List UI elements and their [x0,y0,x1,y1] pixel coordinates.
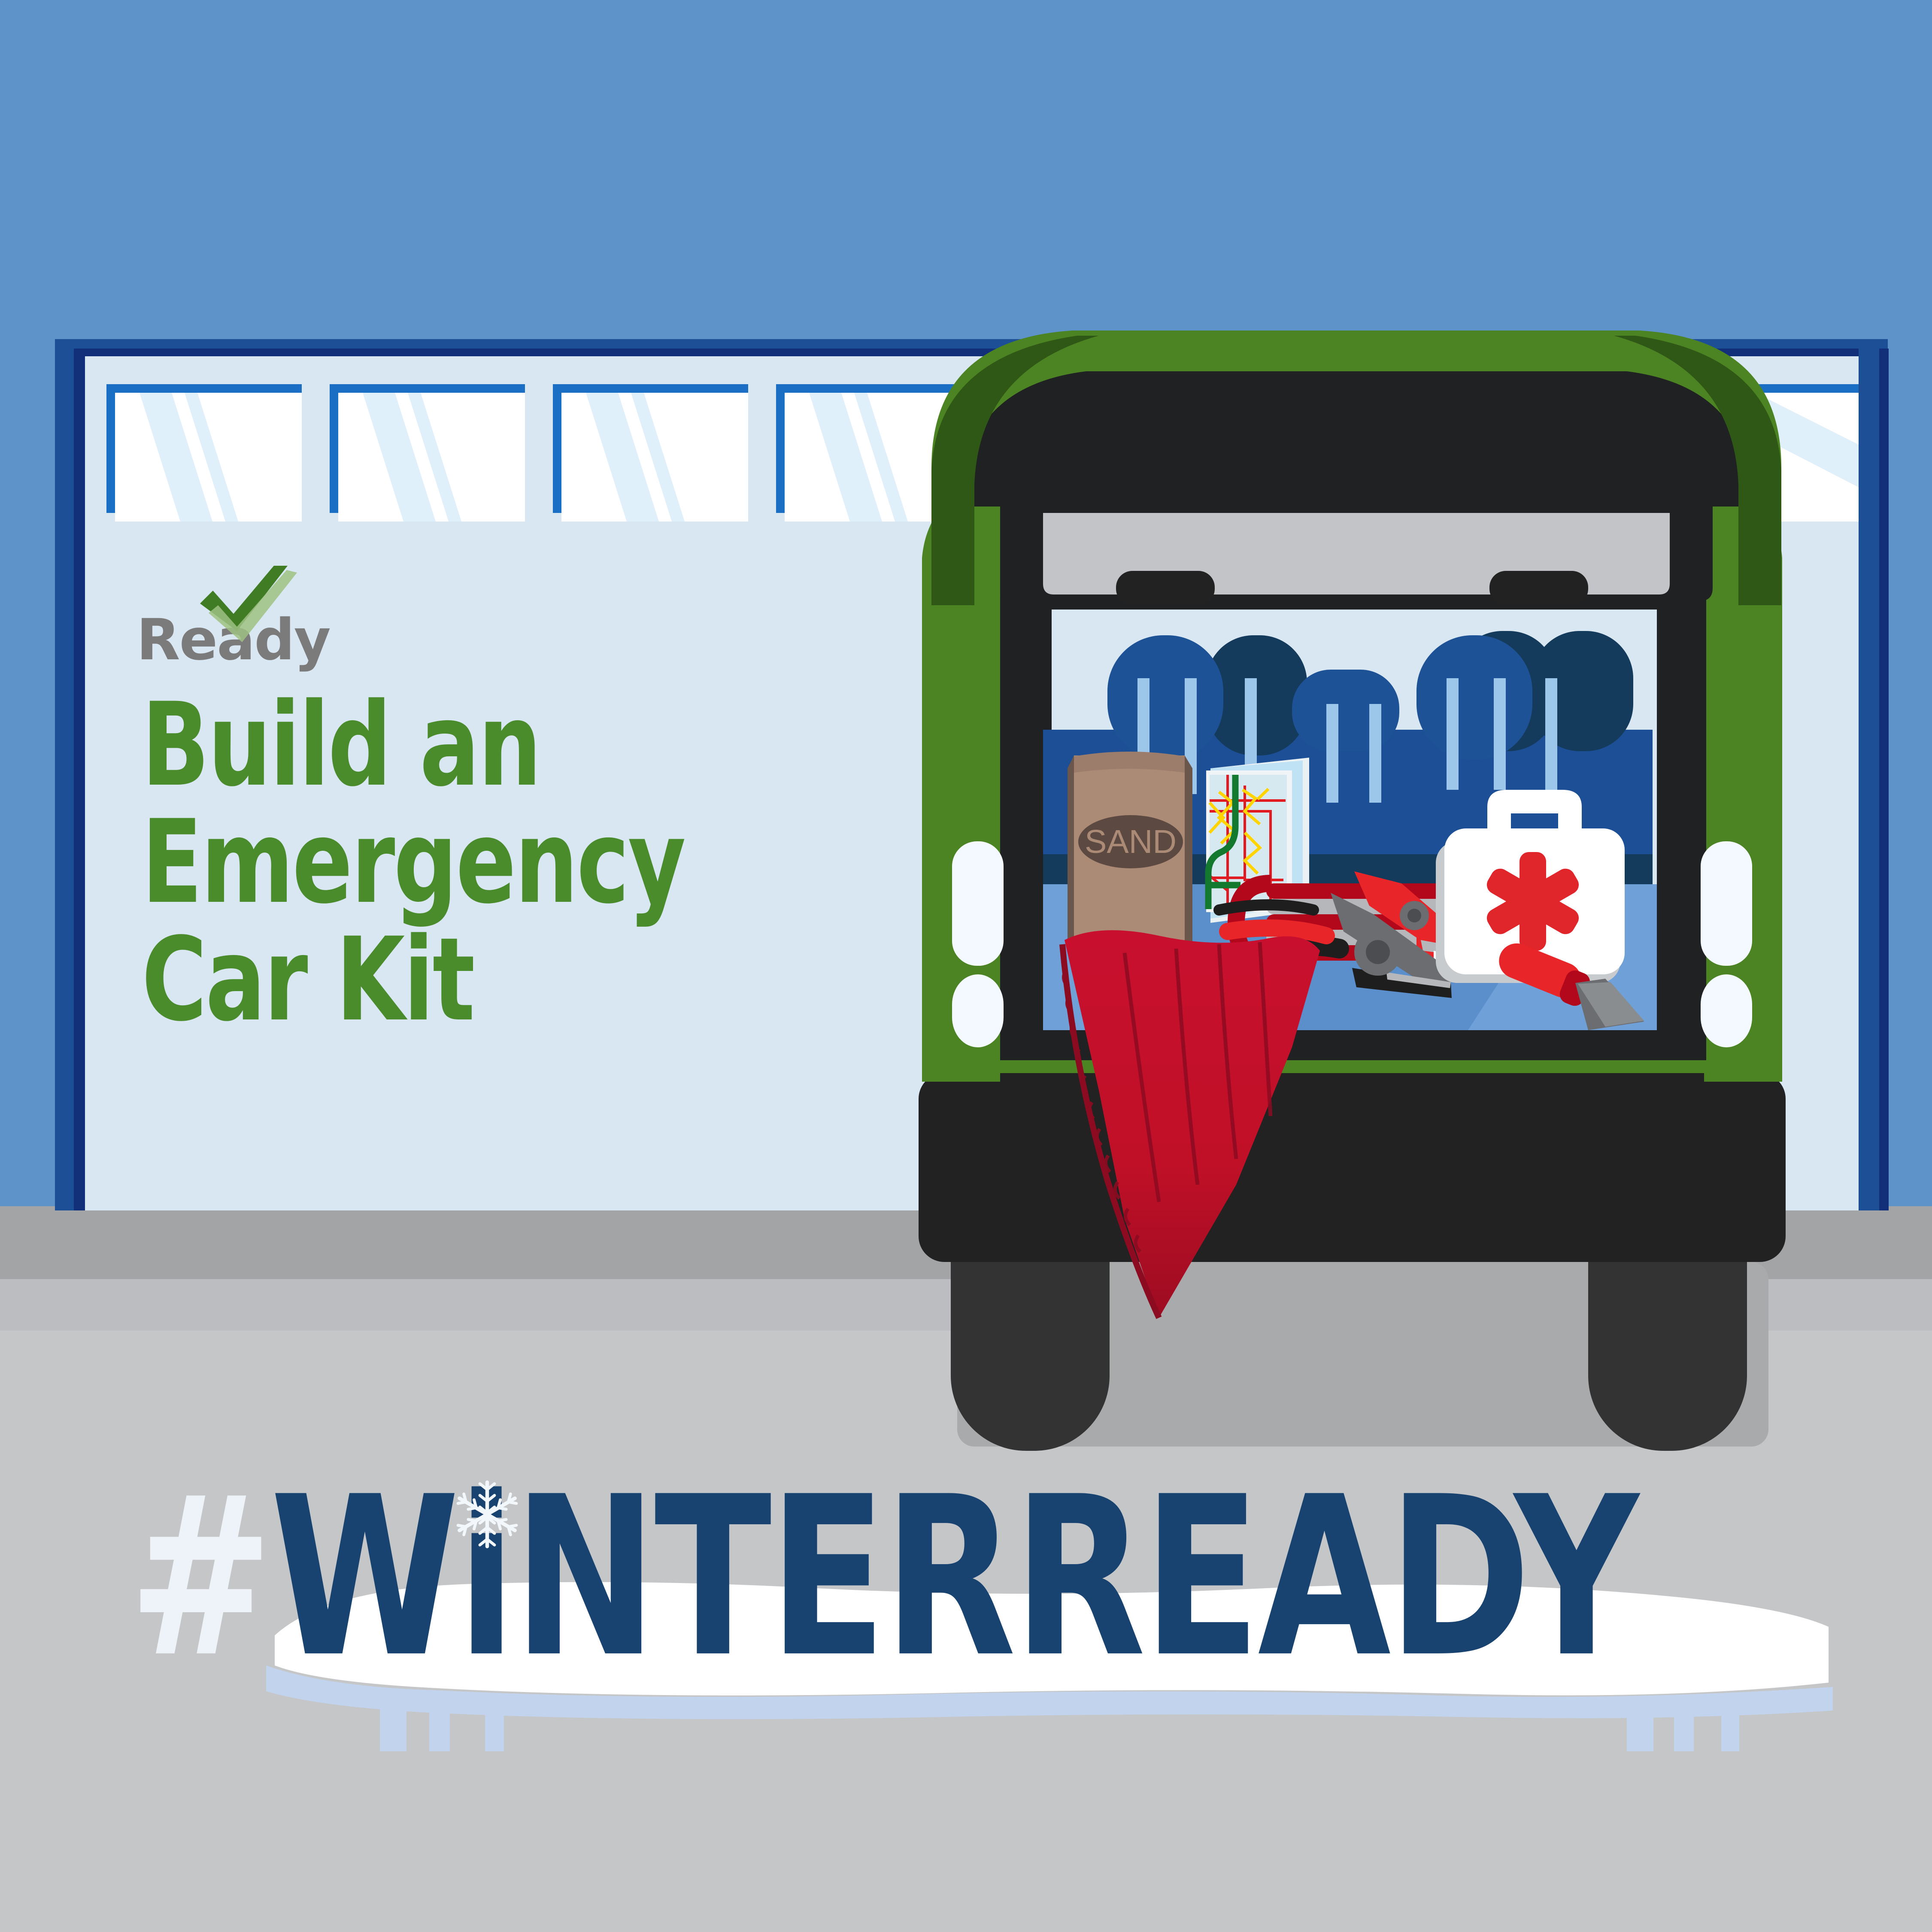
headrest [1107,635,1223,760]
hashtag-word: #WiNTERREADY [129,1468,1636,1688]
rear-hatch-open [931,331,1781,605]
taillight-right [1701,841,1752,1047]
bag-of-sand: SAND [1068,752,1192,944]
hashtag-block: #WiNTERREADY #WiNTERREADY [0,1468,1932,1708]
snowflake-icon [451,1467,524,1562]
taillight-left [952,841,1004,1047]
garage-window [330,384,525,522]
garage-window [106,384,302,522]
ready-check-icon [192,562,373,652]
sand-label-text: SAND [1085,823,1177,860]
page-title: Build an Emergency Car Kit [142,687,769,1039]
poster-canvas: SAND [0,0,1932,1932]
headrest [1416,635,1532,760]
rear-bumper [919,1073,1786,1262]
garage-window [553,384,748,522]
ready-logo: Ready [136,612,317,668]
headrest [1292,670,1399,751]
